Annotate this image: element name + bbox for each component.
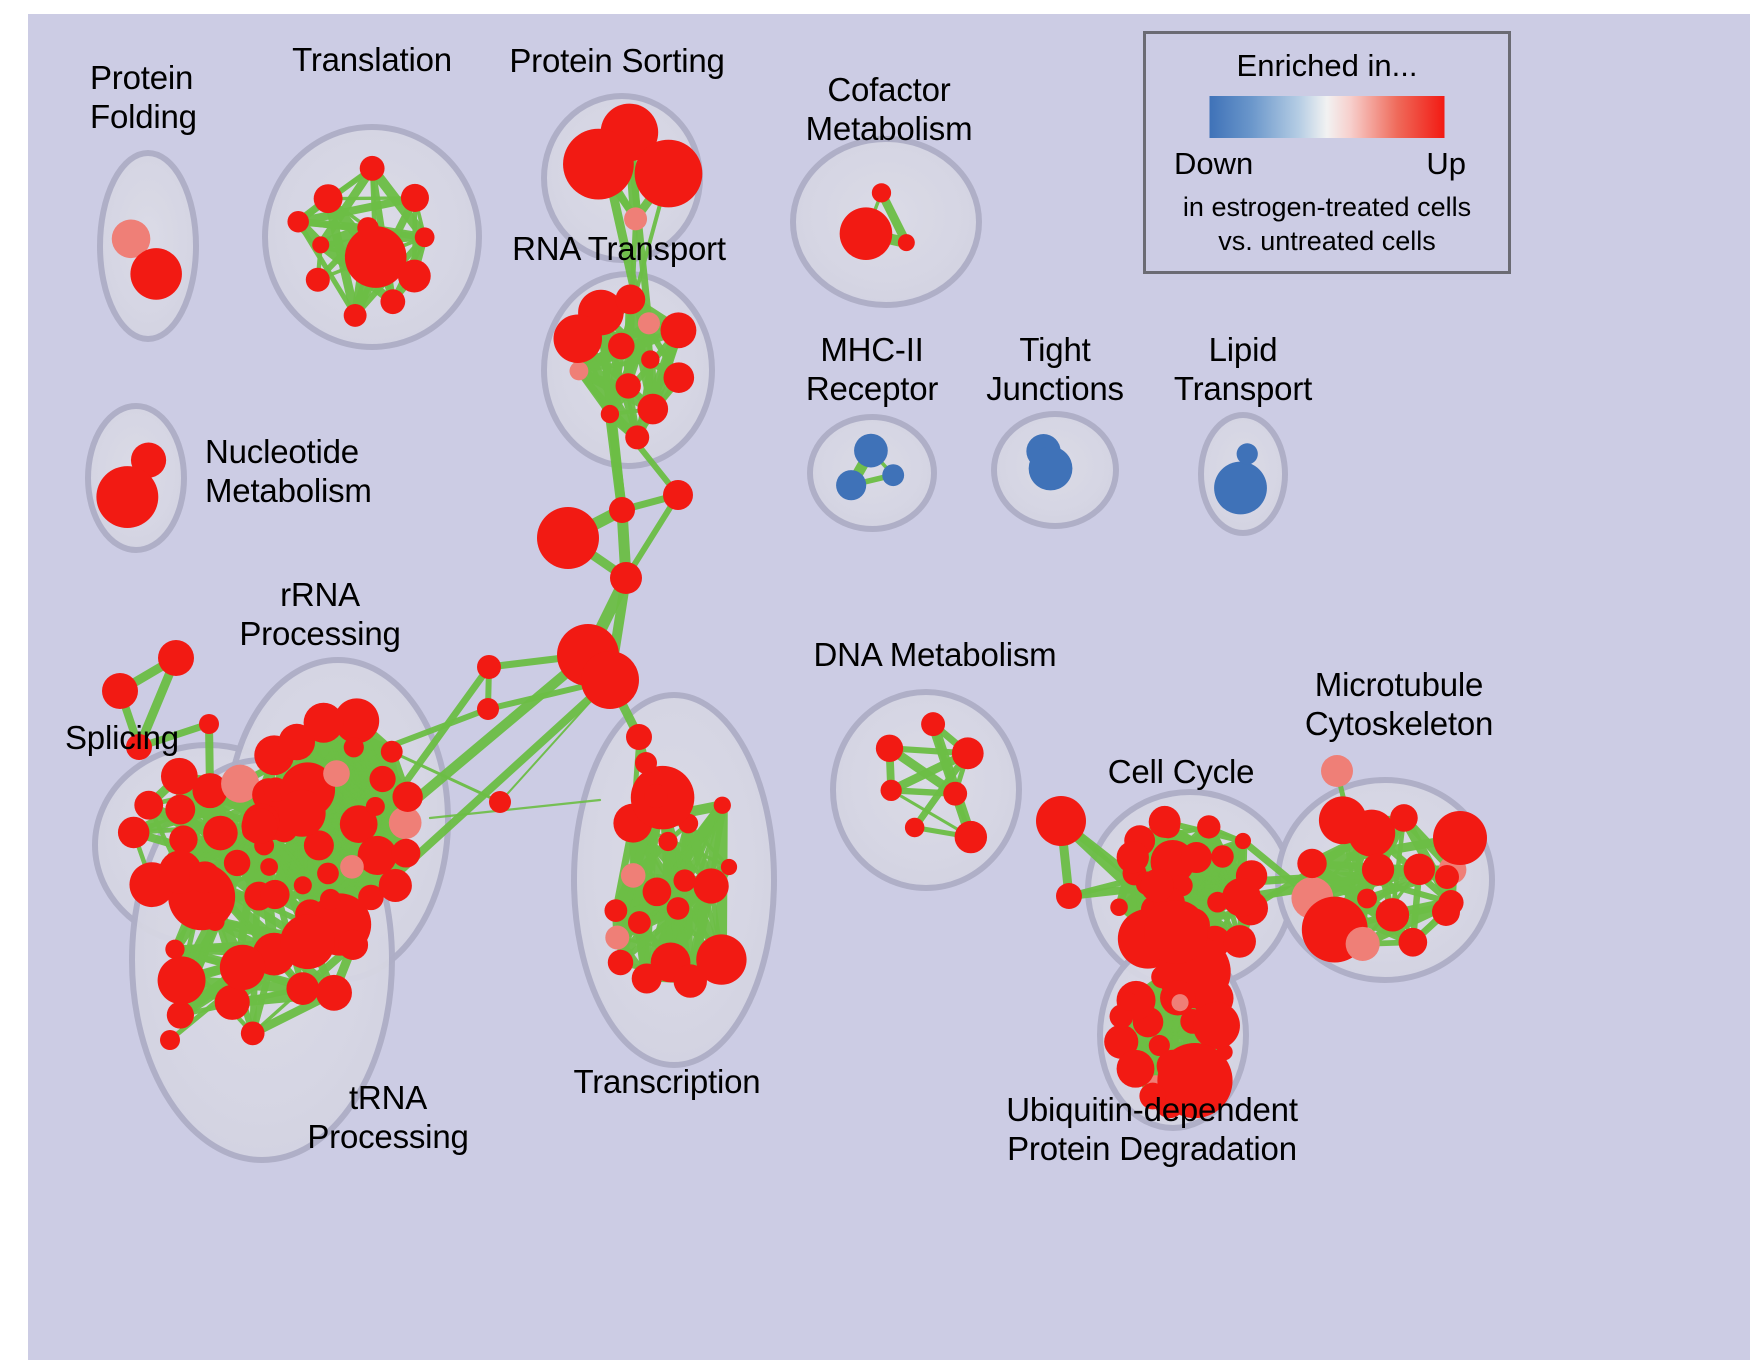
network-node[interactable] <box>1222 878 1261 917</box>
network-node[interactable] <box>160 1030 180 1050</box>
network-node[interactable] <box>1144 900 1208 964</box>
cluster-label-microtubule-cytoskeleton: Microtubule Cytoskeleton <box>1305 665 1493 743</box>
network-node[interactable] <box>345 226 407 288</box>
network-node[interactable] <box>1110 898 1128 916</box>
network-node[interactable] <box>635 140 703 208</box>
network-node[interactable] <box>1235 833 1251 849</box>
network-node[interactable] <box>102 673 138 709</box>
legend-low-label: Down <box>1174 146 1253 182</box>
network-node[interactable] <box>260 880 289 909</box>
network-node[interactable] <box>876 735 903 762</box>
network-node[interactable] <box>638 312 660 334</box>
network-node[interactable] <box>1211 845 1234 868</box>
network-node[interactable] <box>316 975 352 1011</box>
edge <box>430 800 600 818</box>
network-node[interactable] <box>608 950 633 975</box>
network-node[interactable] <box>340 855 364 879</box>
network-node[interactable] <box>1117 1050 1155 1088</box>
network-node[interactable] <box>134 791 163 820</box>
cluster-label-tight-junctions: Tight Junctions <box>986 330 1124 408</box>
network-node[interactable] <box>641 350 659 368</box>
network-node[interactable] <box>1404 854 1435 885</box>
cluster-label-nucleotide-metabolism: Nucleotide Metabolism <box>205 432 372 510</box>
network-node[interactable] <box>836 470 866 500</box>
network-node[interactable] <box>625 425 649 449</box>
network-node[interactable] <box>392 839 421 868</box>
cluster-label-lipid-transport: Lipid Transport <box>1174 330 1312 408</box>
cluster-label-ubiquitin-protein-degradation: Ubiquitin-dependent Protein Degradation <box>1006 1090 1298 1168</box>
cluster-label-rna-transport: RNA Transport <box>512 229 726 268</box>
network-node[interactable] <box>608 333 635 360</box>
network-node[interactable] <box>628 911 651 934</box>
network-node[interactable] <box>581 651 639 709</box>
network-node[interactable] <box>621 863 646 888</box>
network-node[interactable] <box>320 889 341 910</box>
network-node[interactable] <box>203 816 238 851</box>
network-node[interactable] <box>674 964 707 997</box>
network-node[interactable] <box>605 926 629 950</box>
network-node[interactable] <box>943 782 967 806</box>
network-node[interactable] <box>1197 815 1220 838</box>
network-node[interactable] <box>206 912 225 931</box>
legend-high-label: Up <box>1426 146 1466 182</box>
legend-title: Enriched in... <box>1146 48 1508 84</box>
network-node[interactable] <box>118 817 149 848</box>
network-node[interactable] <box>401 184 429 212</box>
network-node[interactable] <box>1029 447 1073 491</box>
cluster-label-cell-cycle: Cell Cycle <box>1108 752 1255 791</box>
network-node[interactable] <box>1117 841 1149 873</box>
network-node[interactable] <box>260 858 278 876</box>
network-node[interactable] <box>554 314 603 363</box>
network-node[interactable] <box>306 268 330 292</box>
network-node[interactable] <box>165 940 184 959</box>
network-node[interactable] <box>1376 898 1409 931</box>
network-node[interactable] <box>694 868 729 903</box>
network-node[interactable] <box>1319 796 1367 844</box>
network-node[interactable] <box>314 184 343 213</box>
network-node[interactable] <box>644 784 668 808</box>
network-node[interactable] <box>167 1001 194 1028</box>
network-node[interactable] <box>1433 811 1487 865</box>
cluster-label-translation: Translation <box>292 40 452 79</box>
network-node[interactable] <box>1297 849 1326 878</box>
network-node[interactable] <box>667 897 690 920</box>
figure-canvas: Protein FoldingTranslationProtein Sortin… <box>0 0 1750 1360</box>
network-node[interactable] <box>563 129 634 200</box>
cluster-label-splicing: Splicing <box>65 718 179 757</box>
network-node[interactable] <box>220 945 265 990</box>
network-node[interactable] <box>673 869 695 891</box>
network-node[interactable] <box>199 714 219 734</box>
network-node[interactable] <box>1120 993 1138 1011</box>
network-node[interactable] <box>169 825 197 853</box>
network-node[interactable] <box>381 741 403 763</box>
network-node[interactable] <box>1362 853 1394 885</box>
network-node[interactable] <box>287 211 308 232</box>
network-node[interactable] <box>338 930 368 960</box>
network-node[interactable] <box>921 712 945 736</box>
network-node[interactable] <box>952 737 984 769</box>
network-node[interactable] <box>1223 925 1256 958</box>
network-node[interactable] <box>616 373 641 398</box>
network-node[interactable] <box>840 207 893 260</box>
network-node[interactable] <box>854 434 888 468</box>
network-node[interactable] <box>366 797 385 816</box>
network-node[interactable] <box>317 863 339 885</box>
network-node[interactable] <box>323 760 350 787</box>
network-node[interactable] <box>477 698 499 720</box>
network-node[interactable] <box>610 562 642 594</box>
network-node[interactable] <box>369 766 395 792</box>
network-node[interactable] <box>294 876 312 894</box>
network-node[interactable] <box>278 790 325 837</box>
network-node[interactable] <box>872 183 891 202</box>
network-node[interactable] <box>1357 889 1377 909</box>
network-node[interactable] <box>1346 927 1380 961</box>
cluster-label-transcription: Transcription <box>574 1062 761 1101</box>
cluster-label-protein-folding: Protein Folding <box>90 58 197 136</box>
network-node[interactable] <box>344 737 364 757</box>
network-node[interactable] <box>241 808 277 844</box>
network-node[interactable] <box>415 227 435 247</box>
network-node[interactable] <box>241 1022 265 1046</box>
network-node[interactable] <box>663 480 693 510</box>
network-node[interactable] <box>477 655 501 679</box>
network-node[interactable] <box>158 956 206 1004</box>
legend-color-bar <box>1210 96 1445 138</box>
network-node[interactable] <box>1432 898 1460 926</box>
network-node[interactable] <box>189 861 221 893</box>
network-node[interactable] <box>721 859 737 875</box>
network-node[interactable] <box>1056 883 1082 909</box>
network-node[interactable] <box>898 234 915 251</box>
network-node[interactable] <box>635 752 657 774</box>
network-node[interactable] <box>664 362 695 393</box>
network-node[interactable] <box>1036 796 1086 846</box>
network-node[interactable] <box>624 207 647 230</box>
network-node[interactable] <box>380 289 405 314</box>
cluster-label-protein-sorting: Protein Sorting <box>509 41 724 80</box>
network-node[interactable] <box>1193 1002 1240 1049</box>
network-node[interactable] <box>286 972 319 1005</box>
network-node[interactable] <box>1181 842 1212 873</box>
cluster-label-mhc-ii-receptor: MHC-II Receptor <box>806 330 938 408</box>
network-node[interactable] <box>1435 865 1459 889</box>
network-node[interactable] <box>882 464 904 486</box>
network-node[interactable] <box>392 782 422 812</box>
network-node[interactable] <box>1149 806 1181 838</box>
cluster-label-rrna-processing: rRNA Processing <box>239 575 400 653</box>
network-node[interactable] <box>569 361 588 380</box>
network-node[interactable] <box>357 217 378 238</box>
network-node[interactable] <box>626 724 652 750</box>
network-node[interactable] <box>224 850 250 876</box>
network-node[interactable] <box>637 394 668 425</box>
network-node[interactable] <box>643 877 672 906</box>
legend-box: Enriched in... Down Up in estrogen-treat… <box>1143 31 1511 274</box>
network-node[interactable] <box>881 780 902 801</box>
network-node[interactable] <box>279 724 315 760</box>
network-node[interactable] <box>905 818 925 838</box>
network-node[interactable] <box>1399 928 1428 957</box>
network-node[interactable] <box>1390 804 1418 832</box>
network-node[interactable] <box>130 248 182 300</box>
network-node[interactable] <box>1214 462 1267 515</box>
network-node[interactable] <box>658 832 677 851</box>
network-node[interactable] <box>344 304 367 327</box>
network-node[interactable] <box>165 795 195 825</box>
cluster-label-dna-metabolism: DNA Metabolism <box>814 635 1057 674</box>
cluster-label-cofactor-metabolism: Cofactor Metabolism <box>806 70 973 148</box>
network-node[interactable] <box>1321 755 1353 787</box>
network-node[interactable] <box>604 899 627 922</box>
network-node[interactable] <box>955 821 987 853</box>
network-node[interactable] <box>1172 994 1189 1011</box>
network-node[interactable] <box>215 985 250 1020</box>
network-node[interactable] <box>161 758 198 795</box>
network-node[interactable] <box>714 797 731 814</box>
network-node[interactable] <box>489 791 511 813</box>
network-node[interactable] <box>660 312 696 348</box>
cluster-label-trna-processing: tRNA Processing <box>307 1078 468 1156</box>
network-node[interactable] <box>601 405 619 423</box>
network-node[interactable] <box>616 285 646 315</box>
network-node[interactable] <box>158 640 194 676</box>
network-node[interactable] <box>1237 443 1258 464</box>
network-node[interactable] <box>96 466 158 528</box>
network-node[interactable] <box>379 869 412 902</box>
network-node[interactable] <box>1141 869 1174 902</box>
network-node[interactable] <box>280 914 335 969</box>
network-node[interactable] <box>312 236 329 253</box>
network-node[interactable] <box>537 507 599 569</box>
network-node[interactable] <box>360 156 385 181</box>
legend-caption: in estrogen-treated cells vs. untreated … <box>1146 190 1508 258</box>
network-node[interactable] <box>609 497 635 523</box>
network-node[interactable] <box>398 260 431 293</box>
